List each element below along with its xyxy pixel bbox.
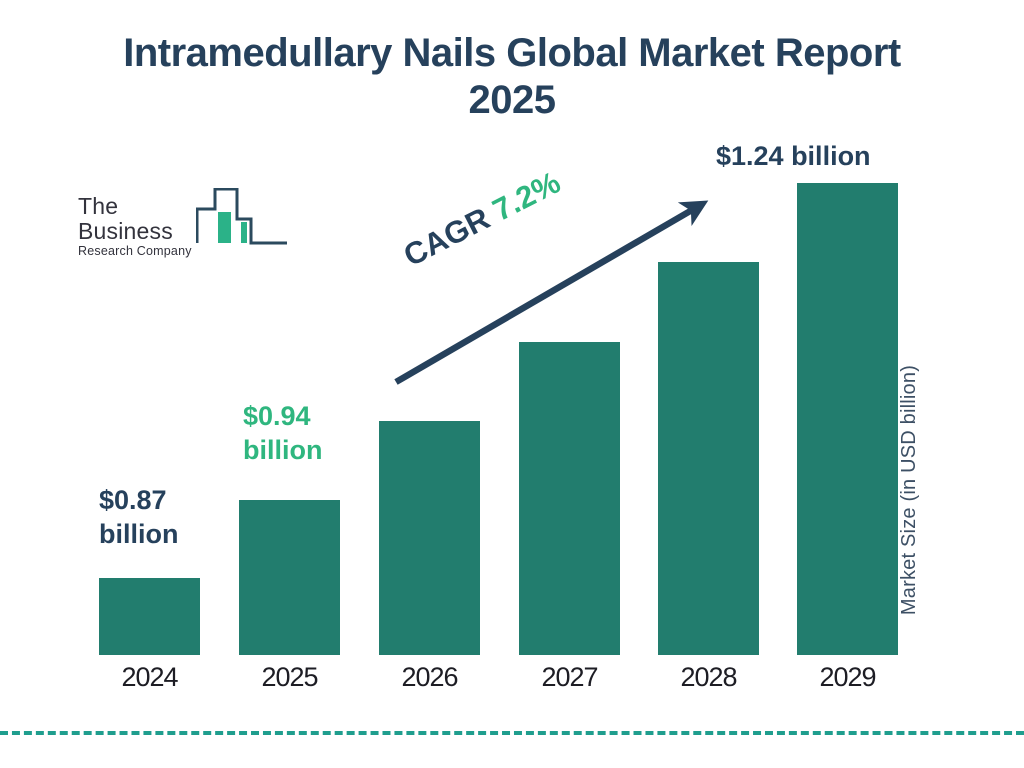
company-logo: The Business Research Company xyxy=(78,188,288,252)
bar-2027 xyxy=(519,342,620,655)
bar-2025 xyxy=(239,500,340,655)
value-label-2029: $1.24 billion xyxy=(716,140,916,174)
x-axis-label-2026: 2026 xyxy=(379,662,480,693)
footer-divider xyxy=(0,731,1024,735)
bar-2026 xyxy=(379,421,480,655)
logo-text: The Business Research Company xyxy=(78,194,208,259)
y-axis-title-text: Market Size (in USD billion) xyxy=(898,320,921,660)
bar-chart-logo-mark xyxy=(196,188,288,255)
bar-2024 xyxy=(99,578,200,655)
logo-line-2: Research Company xyxy=(78,244,208,259)
x-axis-label-2024: 2024 xyxy=(99,662,200,693)
x-axis-label-2025: 2025 xyxy=(239,662,340,693)
value-label-2025: $0.94 billion xyxy=(243,400,383,468)
x-axis-label-2027: 2027 xyxy=(519,662,620,693)
bar-2028 xyxy=(658,262,759,655)
chart-canvas: Intramedullary Nails Global Market Repor… xyxy=(0,0,1024,768)
x-axis-label-2029: 2029 xyxy=(797,662,898,693)
logo-line-1: The Business xyxy=(78,194,208,244)
cagr-value: 7.2% xyxy=(487,165,566,228)
cagr-label: CAGR 7.2% xyxy=(398,165,566,275)
value-label-2024: $0.87 billion xyxy=(99,484,229,552)
page-title: Intramedullary Nails Global Market Repor… xyxy=(92,30,932,124)
x-axis-label-2028: 2028 xyxy=(658,662,759,693)
bar-2029 xyxy=(797,183,898,655)
cagr-word: CAGR xyxy=(398,197,503,274)
